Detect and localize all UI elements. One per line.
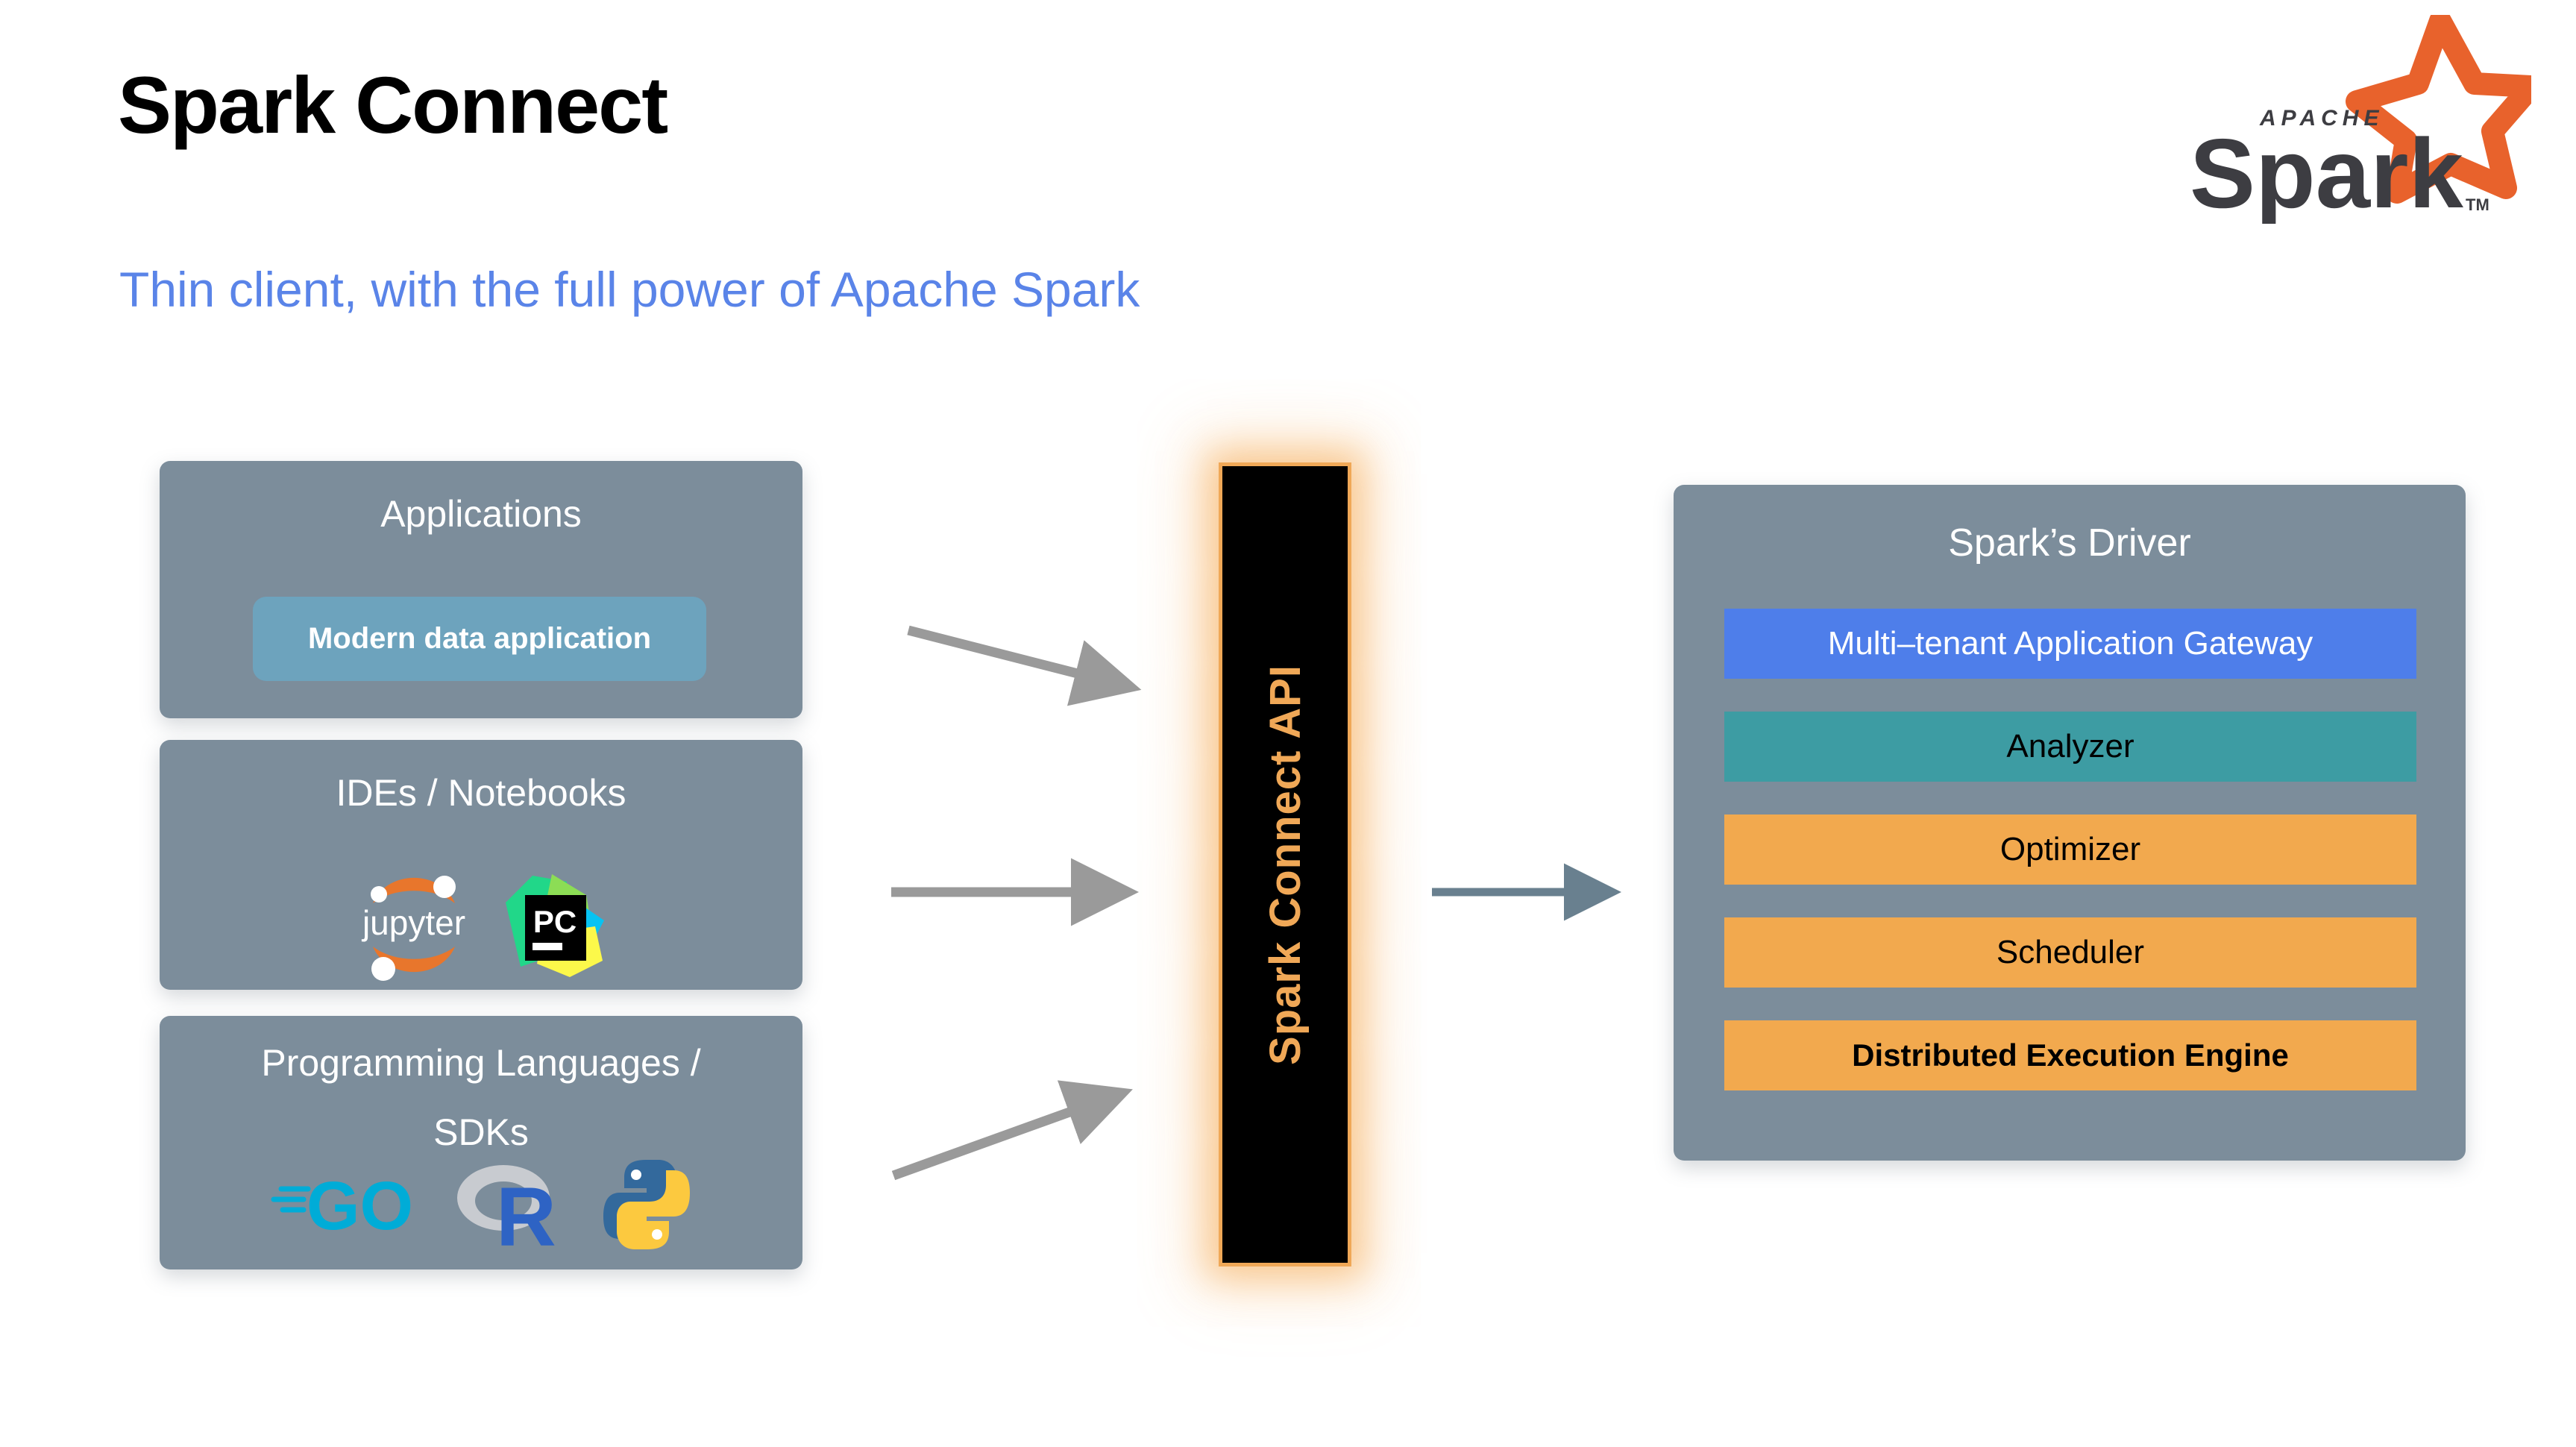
panel-applications-title: Applications: [160, 492, 802, 536]
language-logo-row: GO R: [160, 1156, 802, 1257]
panel-programming-languages[interactable]: Programming Languages / SDKs GO R: [160, 1016, 802, 1269]
panel-ides-notebooks[interactable]: IDEs / Notebooks jupyter PC: [160, 740, 802, 990]
ide-logo-row: jupyter PC: [160, 865, 802, 988]
panel-ides-title: IDEs / Notebooks: [160, 771, 802, 815]
jupyter-logo: jupyter: [352, 869, 476, 985]
panel-driver-title: Spark’s Driver: [1674, 521, 2466, 566]
apache-spark-logo-svg: APACHE Spark TM: [2143, 15, 2531, 224]
driver-stage-execution-engine[interactable]: Distributed Execution Engine: [1724, 1020, 2416, 1090]
arrow-applications-to-api: [908, 630, 1104, 680]
panel-applications[interactable]: Applications Modern data application: [160, 461, 802, 718]
r-logo: R: [451, 1156, 563, 1257]
python-logo: [602, 1157, 691, 1256]
panel-languages-title-line-1: Programming Languages /: [160, 1041, 802, 1085]
jupyter-dot-bottom-left: [371, 957, 395, 981]
go-logo: GO: [271, 1164, 412, 1249]
python-eye-yellow: [652, 1229, 662, 1240]
driver-stage-scheduler[interactable]: Scheduler: [1724, 917, 2416, 988]
r-wordmark: R: [496, 1170, 556, 1253]
spark-connect-api-bar[interactable]: Spark Connect API: [1219, 462, 1351, 1266]
jupyter-dot-top-right: [433, 876, 456, 898]
driver-stage-gateway[interactable]: Multi–tenant Application Gateway: [1724, 609, 2416, 679]
panel-spark-driver[interactable]: Spark’s Driver Multi–tenant Application …: [1674, 485, 2466, 1161]
page-title: Spark Connect: [118, 58, 667, 151]
go-logo-svg: GO: [271, 1164, 412, 1246]
driver-stage-optimizer[interactable]: Optimizer: [1724, 814, 2416, 885]
panel-languages-title-line-2: SDKs: [160, 1111, 802, 1155]
spark-connect-api-label: Spark Connect API: [1260, 665, 1310, 1065]
arrow-languages-to-api: [893, 1102, 1096, 1176]
pycharm-logo-svg: PC: [498, 865, 610, 985]
modern-data-application-box[interactable]: Modern data application: [253, 597, 706, 681]
page-subtitle: Thin client, with the full power of Apac…: [119, 261, 1140, 318]
pycharm-wordmark: PC: [533, 904, 577, 939]
jupyter-dot-top-left: [371, 886, 387, 903]
go-speed-lines: [274, 1189, 308, 1210]
trademark-text: TM: [2466, 195, 2489, 214]
driver-stage-analyzer[interactable]: Analyzer: [1724, 712, 2416, 782]
python-eye-blue: [631, 1170, 641, 1180]
go-wordmark: GO: [307, 1168, 412, 1244]
pycharm-logo: PC: [498, 865, 610, 988]
apache-spark-logo: APACHE Spark TM: [2143, 15, 2531, 224]
r-logo-svg: R: [451, 1156, 563, 1253]
spark-wordmark-text: Spark: [2190, 119, 2463, 224]
jupyter-wordmark: jupyter: [361, 903, 465, 942]
jupyter-logo-svg: jupyter: [352, 869, 476, 981]
python-logo-svg: [602, 1157, 691, 1252]
pycharm-underscore: [533, 943, 562, 950]
